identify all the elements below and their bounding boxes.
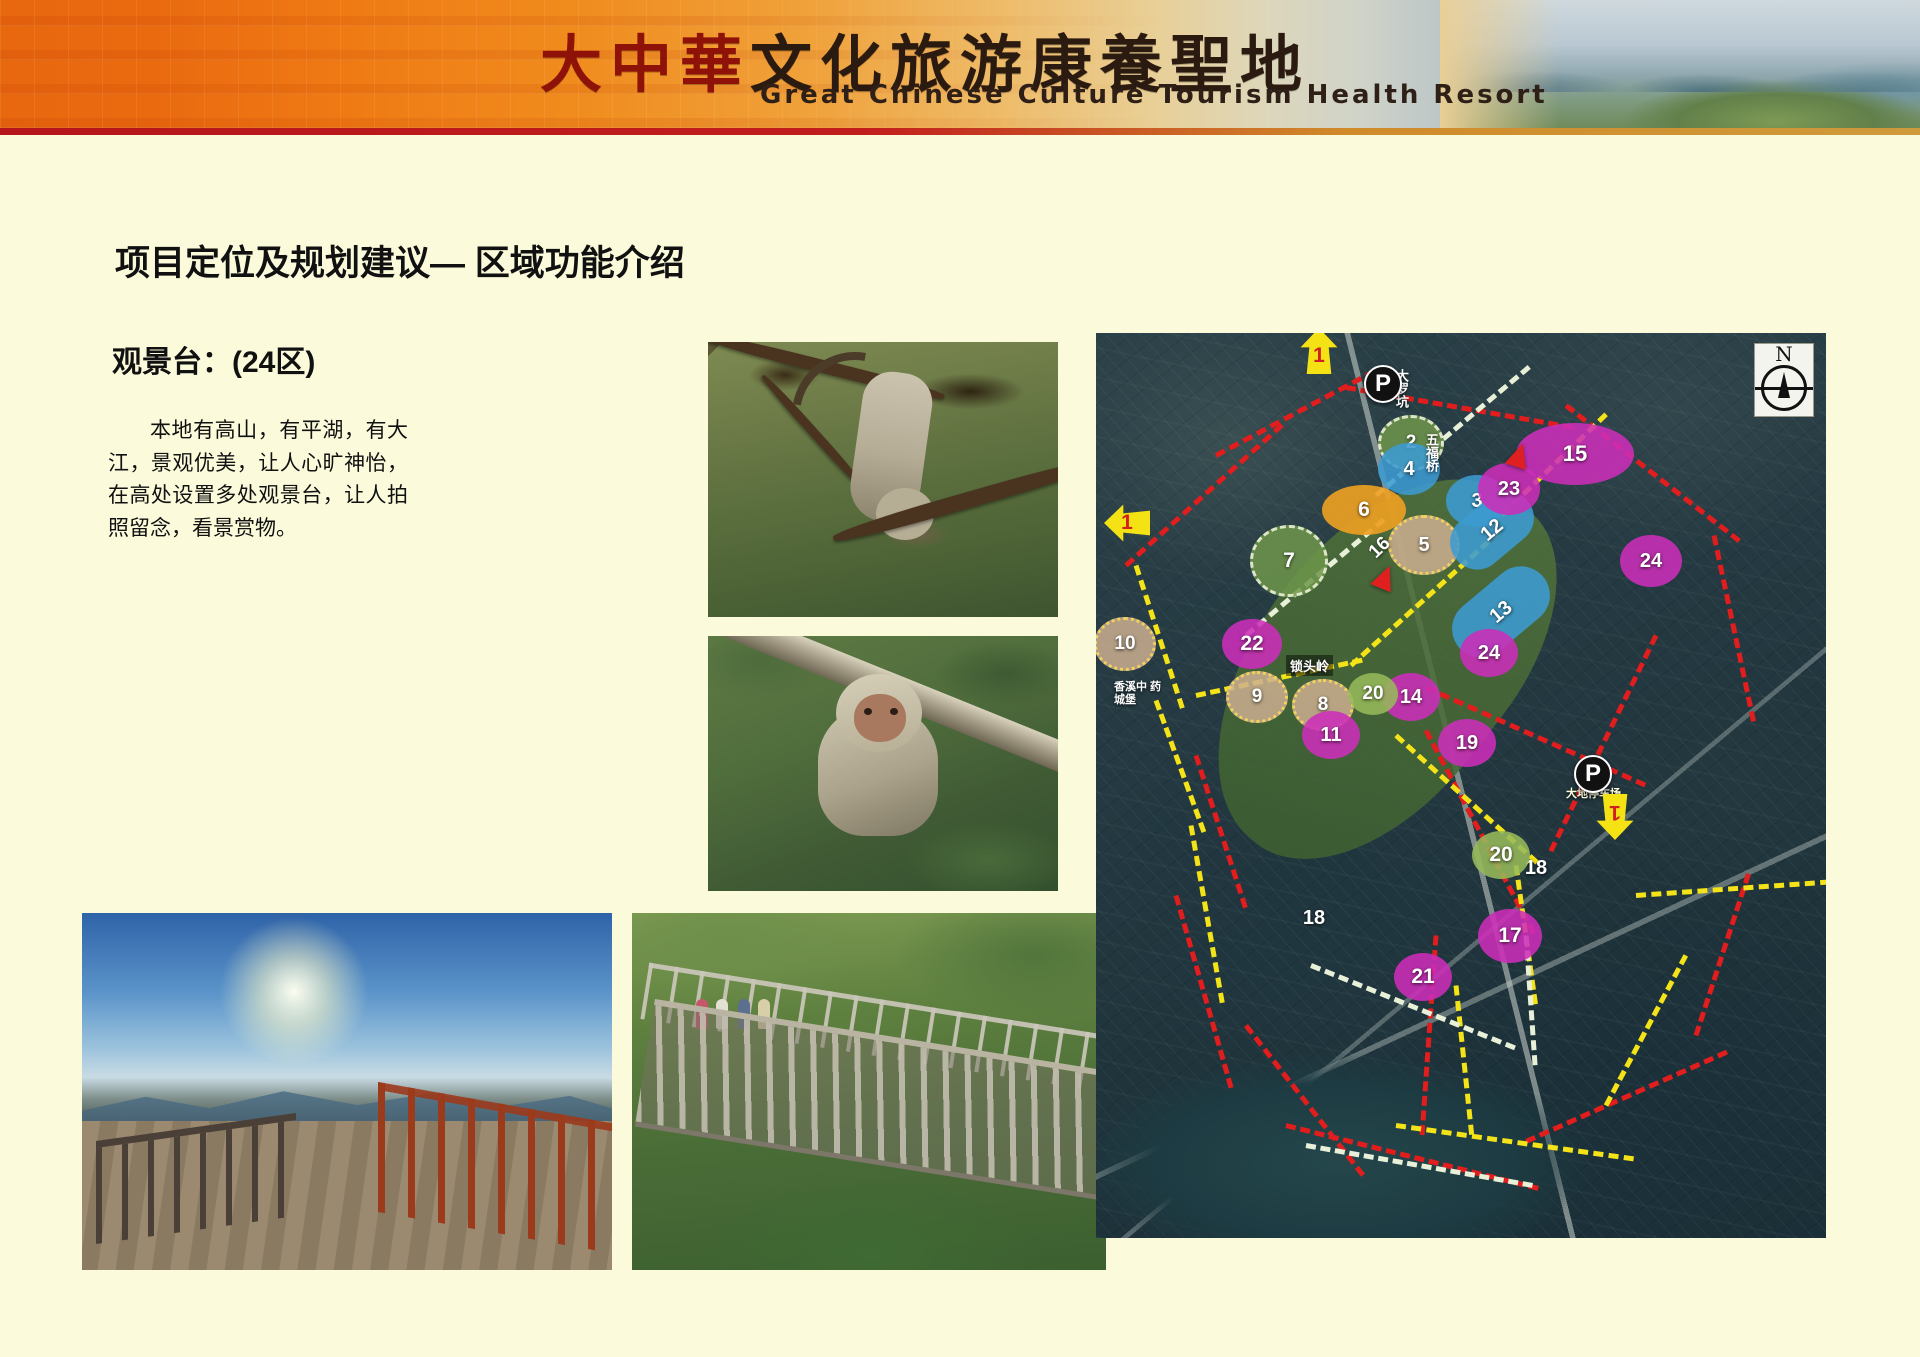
map-zone-20-south[interactable]: 20 [1472,831,1530,879]
photo-mountain-viewing-deck-at-sunrise [82,913,612,1270]
site-banner: 大中華文化旅游康養聖地 Great Chinese Culture Touris… [0,0,1920,128]
banner-english-title: Great Chinese Culture Tourism Health Res… [760,80,1548,110]
photo-monkey-sitting-on-branch [708,636,1058,891]
map-zone-23[interactable]: 23 [1478,463,1540,515]
monkey-eye [890,708,898,715]
satellite-master-plan-map[interactable]: 2 3 4 5 6 7 8 9 10 11 12 13 14 15 16 17 … [1096,333,1826,1238]
parking-icon-north[interactable]: P [1364,365,1402,403]
banner-title-red: 大中華 [540,28,750,101]
map-zone-18-west[interactable]: 18 [1292,901,1336,935]
map-zone-20[interactable]: 20 [1348,673,1398,715]
photo-monkey-hanging-from-branch [708,342,1058,617]
map-zone-22[interactable]: 22 [1222,619,1282,669]
compass-rose-icon: N [1754,343,1814,417]
map-label-xiangxi-herb-castle: 香溪中 药城堡 [1114,681,1170,706]
page-title: 项目定位及规划建议— 区域功能介绍 [115,235,685,286]
compass-north-label: N [1775,344,1793,364]
section-title: 观景台：(24区) [112,337,315,381]
map-zone-9[interactable]: 9 [1226,671,1288,723]
parking-icon-south[interactable]: P [1574,755,1612,793]
entrance-arrow-label: 1 [1121,511,1133,535]
map-zone-6[interactable]: 6 [1322,485,1406,535]
map-zone-24-east[interactable]: 24 [1620,535,1682,587]
banner-divider-rule [0,128,1920,135]
map-zone-24[interactable]: 24 [1460,629,1518,677]
monkey-eye [864,708,872,715]
section-body-text: 本地有高山，有平湖，有大江，景观优美，让人心旷神怡，在高处设置多处观景台，让人拍… [108,415,408,545]
entrance-arrow-label: 1 [1313,344,1325,368]
photo-forest-canopy-walkway [632,913,1106,1270]
map-zone-7[interactable]: 7 [1250,525,1328,597]
entrance-arrow-label: 1 [1609,800,1621,824]
monkey-face [854,694,906,742]
map-zone-21[interactable]: 21 [1394,953,1452,1001]
map-zone-11[interactable]: 11 [1302,711,1360,759]
map-zone-19[interactable]: 19 [1438,719,1496,767]
map-label-wufuqiao: 五福桥 [1422,433,1441,472]
map-zone-17[interactable]: 17 [1478,909,1542,963]
map-zone-10[interactable]: 10 [1096,617,1156,671]
map-label-suotouling: 锁头岭 [1286,655,1333,676]
compass-needle-icon [1761,365,1807,411]
